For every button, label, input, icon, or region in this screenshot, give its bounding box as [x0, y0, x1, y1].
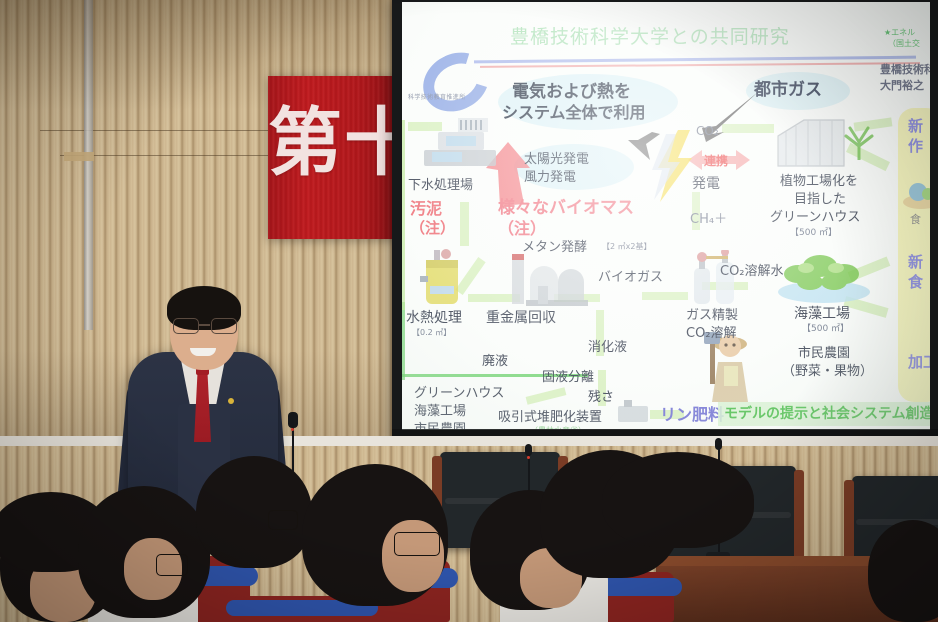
microphone-head: [525, 444, 532, 456]
flow-arrow: [526, 387, 567, 404]
side-item-4: 新: [908, 254, 923, 272]
header-presenter: 大門裕之: [880, 80, 924, 93]
greenhouse-icon: [774, 114, 848, 170]
speaker-lapel-pin: [228, 398, 234, 404]
label-hydrothermal-spec: 【0.2 ㎥】: [412, 328, 451, 337]
label-methane-spec: 【2 ㎥x2基】: [602, 242, 651, 251]
side-item-3: 食: [910, 214, 921, 227]
plant-icon: [842, 126, 876, 160]
label-greenhouse-area: 【500 ㎡】: [790, 228, 837, 239]
presentation-photo: 第十 科学技術教育推進所 豊橋技術科学大学との共同研究 ★エネル （国土交 豊橋…: [0, 0, 938, 622]
audience-glasses-icon: [156, 554, 188, 576]
label-power-generation: 発電: [692, 176, 720, 193]
label-sewage-plant: 下水処理場: [408, 178, 473, 193]
label-citizen-farm-sub: （野菜・果物）: [782, 364, 873, 379]
label-phosphorus: リン肥料: [660, 406, 724, 425]
audience-head: [602, 452, 754, 548]
seaweed-factory-icon: [776, 250, 872, 304]
label-metal-recovery: 重金属回収: [486, 310, 556, 327]
glasses-lens-left: [173, 318, 199, 334]
slide-content: 科学技術教育推進所 豊橋技術科学大学との共同研究 ★エネル （国土交 豊橋技術科…: [402, 2, 930, 430]
label-biomass: 様々なバイオマス: [498, 198, 634, 218]
label-solid-liquid-separation: 固液分離: [542, 370, 594, 385]
title-rule-red: [480, 62, 920, 68]
composting-machine-icon: [616, 398, 650, 424]
label-biogas: バイオガス: [598, 270, 663, 285]
label-co2-water: CO₂溶解水: [720, 264, 784, 279]
microphone-led: [291, 428, 294, 431]
loop-line: [402, 302, 405, 380]
bottom-banner-text: モデルの提示と社会システム創造: [724, 406, 930, 423]
label-cooperation: 連携: [704, 154, 728, 168]
sewage-plant-icon: [422, 116, 498, 174]
label-sludge-note: （注）: [410, 220, 455, 238]
label-greenhouse-3: グリーンハウス: [770, 210, 860, 225]
label-citizen-farm: 市民農園: [798, 346, 850, 361]
label-hydrothermal: 水熱処理: [406, 310, 462, 327]
logo-caption: 科学技術教育推進所: [408, 94, 466, 101]
side-item-5: 食: [908, 274, 923, 292]
loop-line: [402, 120, 405, 310]
farmer-icon: [700, 332, 762, 404]
banner-text: 第十: [268, 102, 396, 184]
speaker-smile: [190, 348, 216, 356]
label-wind: 風力発電: [524, 170, 576, 185]
label-biomass-note: （注）: [498, 220, 546, 239]
label-greenhouse-1: 植物工場化を: [780, 174, 858, 189]
speaker-glasses-icon: [173, 318, 235, 332]
header-university: 豊橋技術科: [880, 64, 930, 77]
audience-head-skin: [382, 520, 444, 592]
digester-icon: [508, 252, 600, 308]
side-item-6: 加工: [908, 354, 930, 372]
label-co2-dissolution: CO₂溶解: [686, 326, 737, 341]
podium-microphone-head-2: [288, 412, 298, 428]
label-sludge: 汚泥: [410, 200, 442, 219]
label-methane-fermentation: メタン発酵: [522, 240, 587, 255]
label-greenhouse-2: 目指した: [794, 192, 846, 207]
label-city-gas: 都市ガス: [754, 80, 822, 100]
flow-arrow: [642, 292, 688, 300]
audience-glasses-icon: [394, 532, 440, 556]
side-item-2: 作: [908, 138, 923, 156]
slide-title: 豊橋技術科学大学との共同研究: [510, 26, 790, 48]
label-digestate: 消化液: [588, 340, 627, 355]
lightning-icon: [650, 130, 698, 202]
label-residue: 残さ: [588, 390, 614, 405]
university-logo-icon: [413, 41, 499, 122]
label-seaweed-area: 【500 ㎡】: [802, 324, 849, 335]
chair-frame: [844, 480, 854, 566]
label-composting: 吸引式堆肥化装置: [498, 410, 602, 425]
label-solar: 太陽光発電: [524, 152, 589, 167]
label-waste-liquid: 廃液: [482, 354, 508, 369]
glasses-bridge: [198, 324, 210, 326]
microphone-led: [527, 456, 530, 459]
hydrothermal-tank-icon: [416, 248, 468, 310]
label-electricity-heat-1: 電気および熱を: [512, 82, 631, 102]
red-banner: 第十: [268, 76, 396, 239]
audience-glasses-icon: [268, 510, 298, 530]
projection-screen-frame: 科学技術教育推進所 豊橋技術科学大学との共同研究 ★エネル （国土交 豊橋技術科…: [392, 0, 938, 443]
label-co2: CO₂: [696, 124, 719, 138]
chair-frame: [794, 470, 804, 562]
microphone-head: [715, 438, 722, 450]
label-greenhouse-short: グリーンハウス: [414, 386, 504, 401]
projection-screen: 科学技術教育推進所 豊橋技術科学大学との共同研究 ★エネル （国土交 豊橋技術科…: [402, 2, 930, 430]
glasses-lens-right: [211, 318, 237, 334]
label-seaweed-short: 海藻工場: [414, 404, 466, 419]
label-seaweed-factory: 海藻工場: [794, 306, 850, 323]
label-ch4: CH₄＋: [690, 212, 727, 227]
header-note-2: （国土交: [888, 39, 920, 48]
header-note-1: ★エネル: [884, 28, 915, 37]
flow-arrow: [460, 202, 469, 246]
food-icon: [902, 178, 930, 212]
label-gas-refining: ガス精製: [686, 308, 738, 323]
label-electricity-heat-2: システム全体で利用: [502, 104, 646, 123]
side-item-1: 新: [908, 118, 923, 136]
